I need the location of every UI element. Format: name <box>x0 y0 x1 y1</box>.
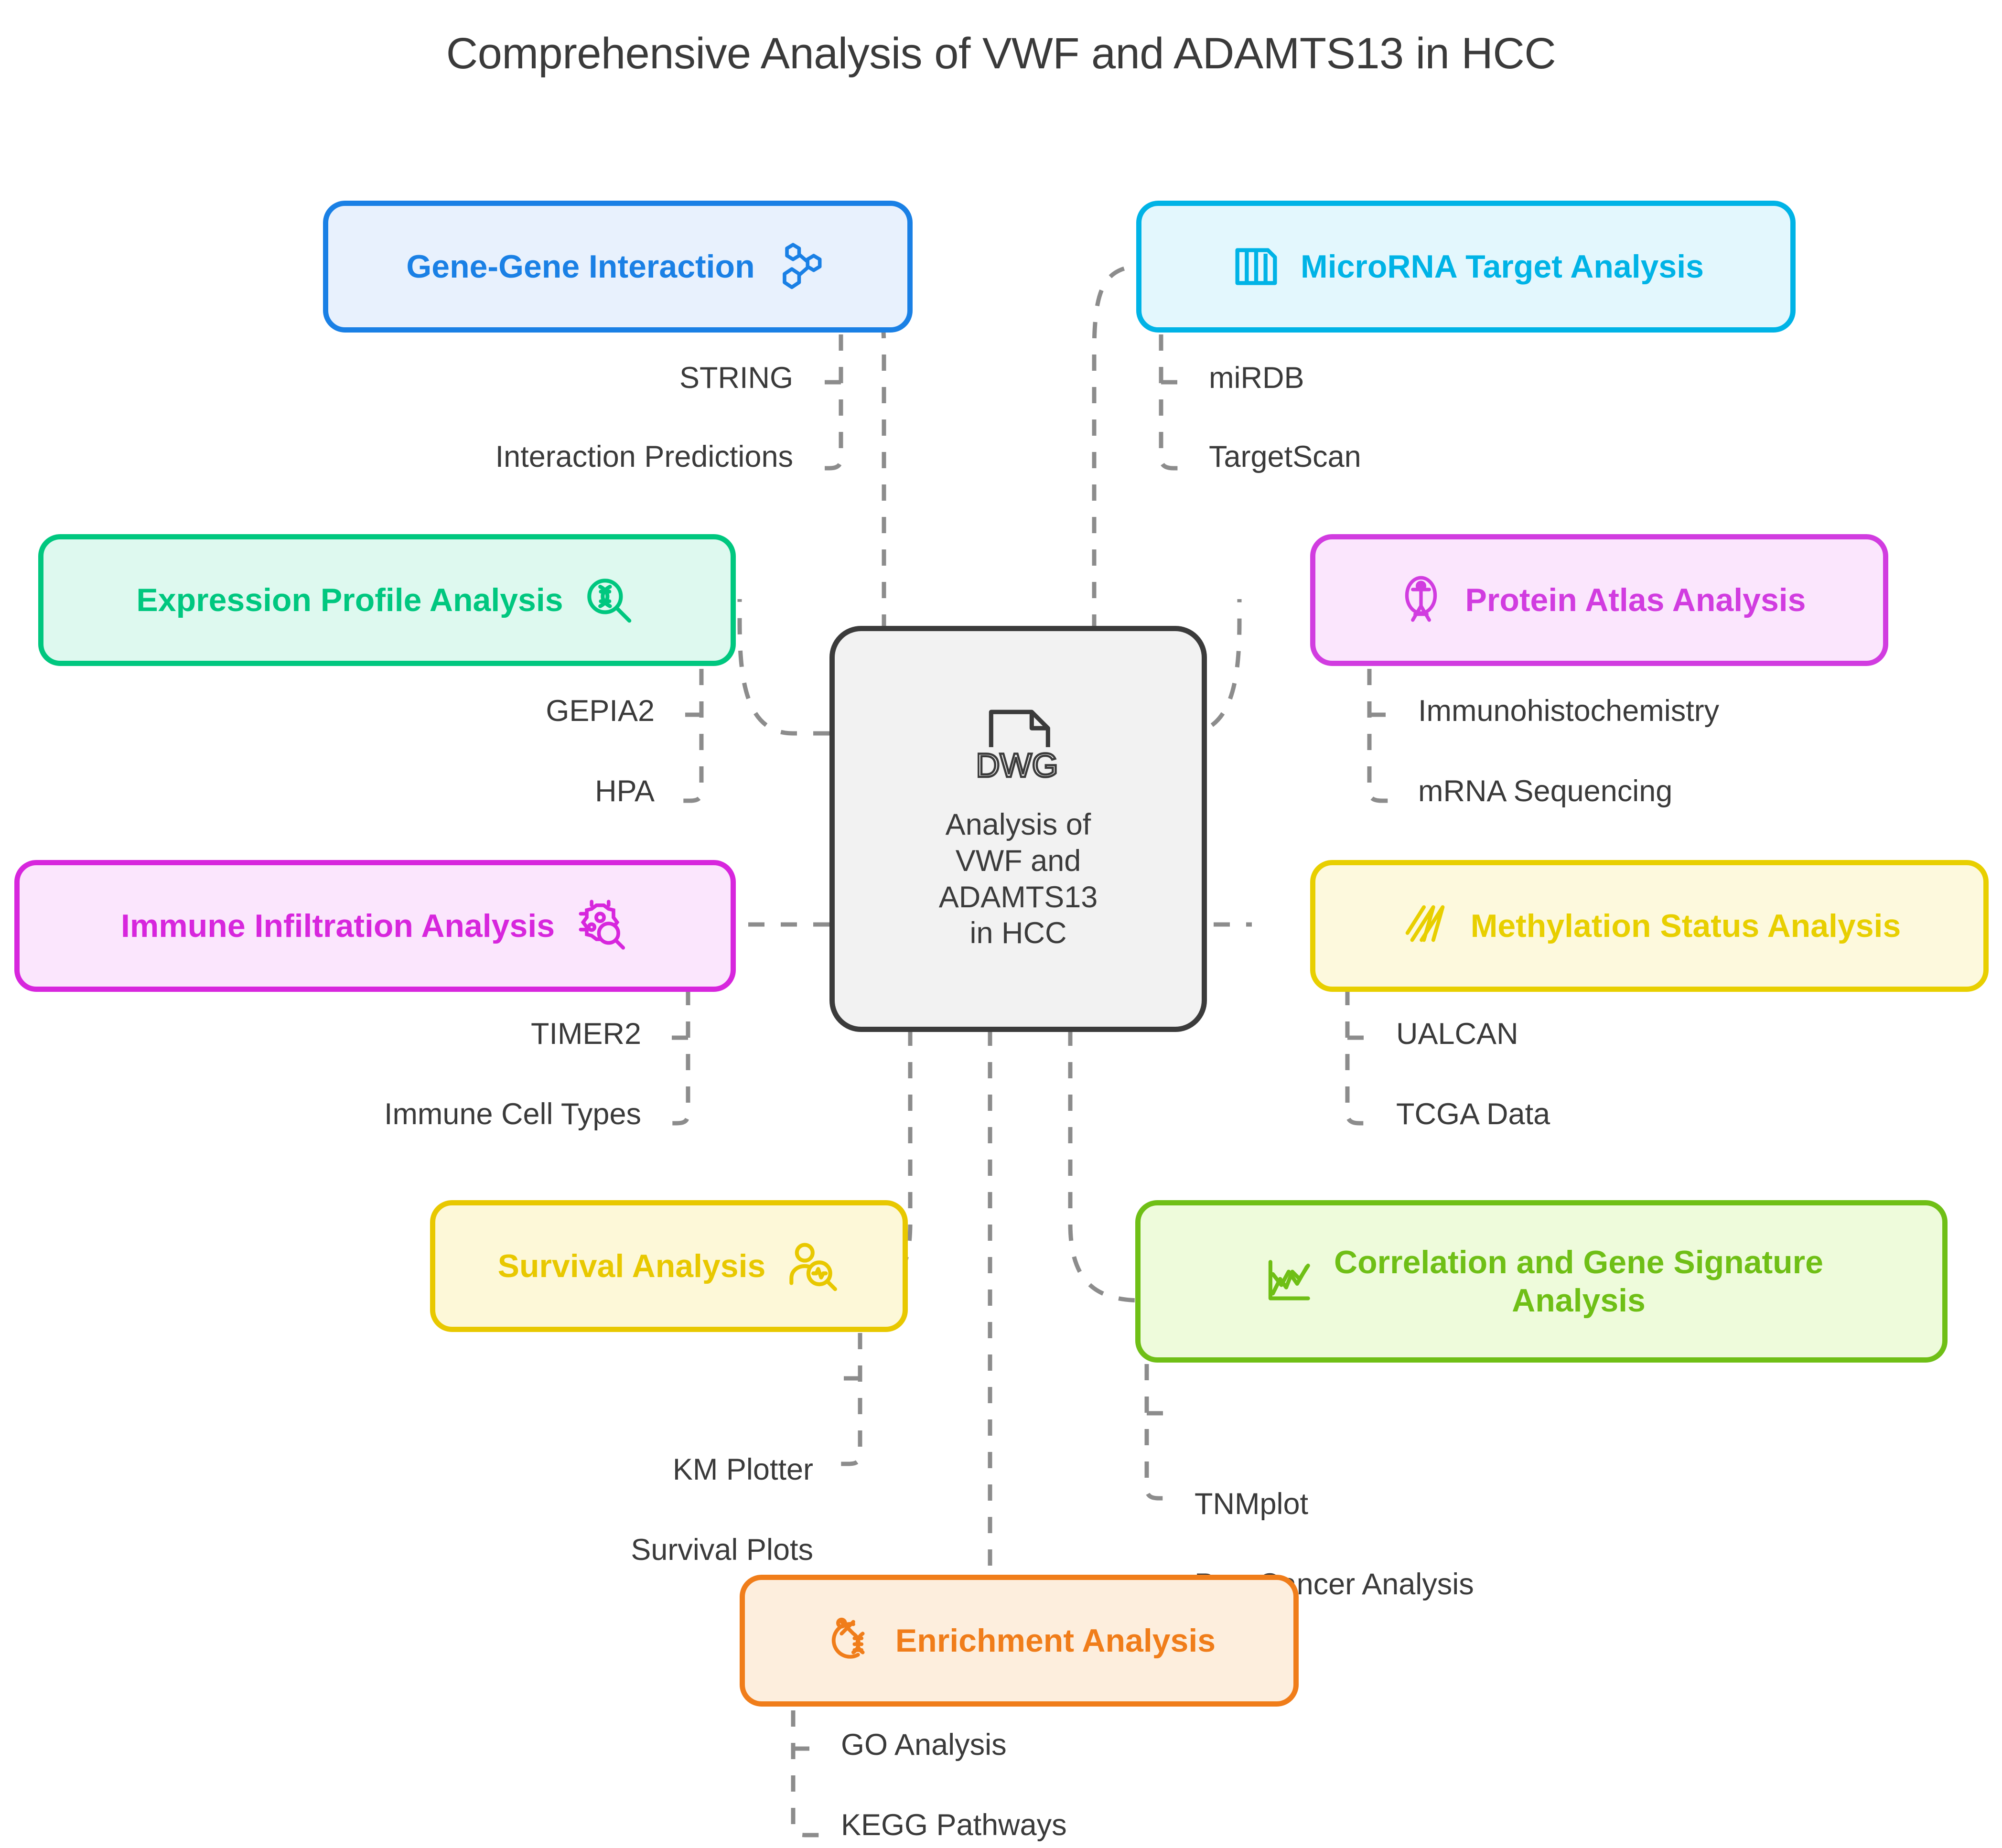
antibody-protein-icon <box>1393 572 1449 628</box>
subnode-correlation-and-gene-signature-analysis-0: TNMplot <box>1195 1487 1308 1521</box>
subnode-expression-profile-analysis-1: HPA <box>595 774 655 808</box>
subnode-immune-infiltration-analysis-0: TIMER2 <box>531 1017 641 1051</box>
page-title: Comprehensive Analysis of VWF and ADAMTS… <box>0 29 2002 79</box>
subnode-expression-profile-analysis-0: GEPIA2 <box>546 694 655 728</box>
branch-label-correlation-and-gene-signature-analysis: Correlation and Gene Signature Analysis <box>1334 1243 1823 1320</box>
subnode-protein-atlas-analysis-1: mRNA Sequencing <box>1418 774 1672 808</box>
person-pulse-magnifier-icon <box>782 1237 840 1295</box>
branch-node-gene-gene-interaction[interactable]: Gene-Gene Interaction <box>323 201 913 333</box>
branch-node-correlation-and-gene-signature-analysis[interactable]: Correlation and Gene Signature Analysis <box>1135 1200 1948 1363</box>
branch-node-methylation-status-analysis[interactable]: Methylation Status Analysis <box>1310 860 1989 992</box>
branch-node-expression-profile-analysis[interactable]: Expression Profile Analysis <box>38 534 736 666</box>
subnode-survival-analysis-1: Survival Plots <box>631 1533 813 1567</box>
diagonal-stripes-icon <box>1398 898 1454 954</box>
connector-expression-profile-analysis-children <box>674 669 701 801</box>
connector-protein-atlas-analysis-children <box>1369 669 1398 801</box>
subnode-methylation-status-analysis-1: TCGA Data <box>1396 1097 1550 1131</box>
branch-label-protein-atlas-analysis: Protein Atlas Analysis <box>1465 581 1806 619</box>
dna-helix-magnifier-icon <box>823 1612 879 1669</box>
connector-gene-gene-interaction-children <box>812 334 841 468</box>
branch-label-methylation-status-analysis: Methylation Status Analysis <box>1471 907 1901 945</box>
branch-label-microrna-target-analysis: MicroRNA Target Analysis <box>1301 247 1704 286</box>
dna-magnifier-icon <box>580 571 638 629</box>
subnode-protein-atlas-analysis-0: Immunohistochemistry <box>1418 694 1719 728</box>
subnode-immune-infiltration-analysis-1: Immune Cell Types <box>384 1097 641 1131</box>
subnode-enrichment-analysis-0: GO Analysis <box>841 1728 1007 1762</box>
connector-methylation-status-analysis-children <box>1347 989 1376 1123</box>
mindmap-canvas: Comprehensive Analysis of VWF and ADAMTS… <box>0 0 2002 1848</box>
connector-correlation-and-gene-signature-analysis-children <box>1147 1364 1175 1498</box>
subnode-enrichment-analysis-1: KEGG Pathways <box>841 1808 1067 1842</box>
center-node[interactable]: DWG Analysis of VWF and ADAMTS13 in HCC <box>829 626 1207 1032</box>
subnode-gene-gene-interaction-1: Interaction Predictions <box>495 440 793 474</box>
subnode-gene-gene-interaction-0: STRING <box>679 361 793 395</box>
branch-node-protein-atlas-analysis[interactable]: Protein Atlas Analysis <box>1310 534 1888 666</box>
branch-node-enrichment-analysis[interactable]: Enrichment Analysis <box>740 1575 1299 1707</box>
virus-magnifier-icon <box>571 897 629 955</box>
branch-label-survival-analysis: Survival Analysis <box>498 1247 766 1285</box>
svg-text:DWG: DWG <box>978 747 1058 784</box>
center-node-label: Analysis of VWF and ADAMTS13 in HCC <box>939 807 1098 951</box>
branch-label-gene-gene-interaction: Gene-Gene Interaction <box>406 247 754 286</box>
molecule-network-icon <box>771 237 829 296</box>
subnode-microrna-target-analysis-0: miRDB <box>1209 361 1304 395</box>
branch-node-microrna-target-analysis[interactable]: MicroRNA Target Analysis <box>1136 201 1796 333</box>
connector-expression-profile-analysis <box>740 599 829 733</box>
connector-immune-infiltration-analysis-children <box>660 989 688 1123</box>
branch-node-immune-infiltration-analysis[interactable]: Immune Infiltration Analysis <box>14 860 736 992</box>
branch-node-survival-analysis[interactable]: Survival Analysis <box>430 1200 908 1332</box>
branch-label-immune-infiltration-analysis: Immune Infiltration Analysis <box>121 907 555 945</box>
connector-enrichment-analysis-children <box>793 1710 822 1835</box>
branch-label-expression-profile-analysis: Expression Profile Analysis <box>136 581 563 619</box>
bar-columns-icon <box>1228 238 1284 295</box>
dwg-file-icon: DWG <box>978 706 1059 804</box>
subnode-survival-analysis-0: KM Plotter <box>673 1452 813 1487</box>
subnode-methylation-status-analysis-0: UALCAN <box>1396 1017 1518 1051</box>
connector-survival-analysis-children <box>832 1333 860 1464</box>
subnode-microrna-target-analysis-1: TargetScan <box>1209 440 1361 474</box>
connector-microrna-target-analysis-children <box>1161 334 1190 468</box>
line-chart-icon <box>1259 1252 1318 1311</box>
branch-label-enrichment-analysis: Enrichment Analysis <box>895 1622 1216 1660</box>
